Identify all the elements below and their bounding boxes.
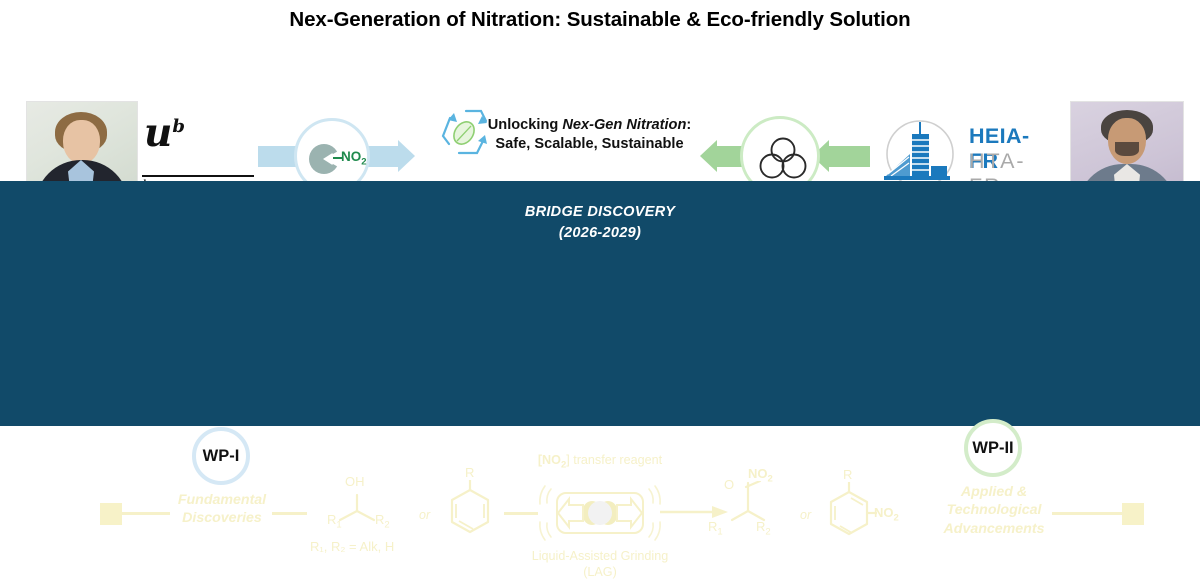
timeline-segment-3 (1052, 512, 1124, 515)
benzene-ring (441, 479, 499, 543)
substrate-aryl-r: R (465, 465, 474, 480)
product-or: or (800, 508, 811, 522)
recycling-leaf-icon (437, 106, 493, 164)
panel-heading: BRIDGE DISCOVERY (2026-2029) (0, 202, 1200, 244)
substrate-oh-label: OH (345, 474, 365, 489)
substrate-r1: R1 (327, 512, 342, 531)
timeline-end-marker (1122, 503, 1144, 525)
wp1-node[interactable]: WP-I (192, 427, 250, 485)
unibe-mark-sup: b (172, 116, 185, 137)
wp1-label: Fundamental Discoveries (152, 491, 292, 528)
wp1-label-line2: Discoveries (152, 509, 292, 527)
lag-caption-line2: (LAG) (505, 564, 695, 580)
wp2-node[interactable]: WP-II (964, 419, 1022, 477)
heia-building-icon (876, 118, 964, 190)
product-aryl-no2: NO2 (874, 505, 899, 524)
no2-label: NO2 (341, 149, 367, 168)
header-band: ub b UNIVERSITÄT BERN NO2 (0, 44, 1200, 181)
graphical-abstract: Nex-Generation of Nitration: Sustainable… (0, 0, 1200, 426)
wp2-label-line1: Applied & (928, 483, 1060, 501)
reagent-label: [NO2] transfer reagent (495, 452, 705, 472)
product-r1: R1 (708, 519, 723, 538)
timeline-segment-4 (504, 512, 538, 515)
wp1-label-line1: Fundamental (152, 491, 292, 509)
nitrate-ester-skeleton (712, 481, 792, 525)
wp2-label-line3: Advancements (928, 520, 1060, 538)
substrate-legend: R₁, R₂ = Alk, H (310, 539, 394, 554)
lag-caption-line1: Liquid-Assisted Grinding (505, 548, 695, 564)
lag-caption: Liquid-Assisted Grinding (LAG) (505, 548, 695, 581)
arrow-left-green-2 (812, 146, 870, 167)
substrate-or: or (419, 508, 430, 522)
tagline-emphasis: Nex-Gen Nitration (562, 117, 686, 133)
substrate-r2: R2 (375, 512, 390, 531)
panel-heading-line1: BRIDGE DISCOVERY (0, 202, 1200, 223)
three-circles-icon (757, 137, 809, 181)
bridge-discovery-panel: BRIDGE DISCOVERY (2026-2029) WP-I Fundam… (0, 181, 1200, 426)
panel-heading-line2: (2026-2029) (0, 223, 1200, 244)
tagline: Unlocking Nex-Gen Nitration: Safe, Scala… (487, 116, 692, 155)
timeline-start-marker (100, 503, 122, 525)
unibe-rule (142, 175, 254, 177)
page-title: Nex-Generation of Nitration: Sustainable… (0, 8, 1200, 32)
product-r2: R2 (756, 519, 771, 538)
wp2-label: Applied & Technological Advancements (928, 483, 1060, 538)
ball-mill-vessel-icon (535, 477, 665, 549)
product-aryl-r: R (843, 467, 852, 482)
unibe-mark: u (144, 110, 172, 156)
nitroarene-ring (820, 481, 878, 545)
tagline-part1: Unlocking (488, 117, 563, 133)
wp2-label-line2: Technological (928, 501, 1060, 519)
